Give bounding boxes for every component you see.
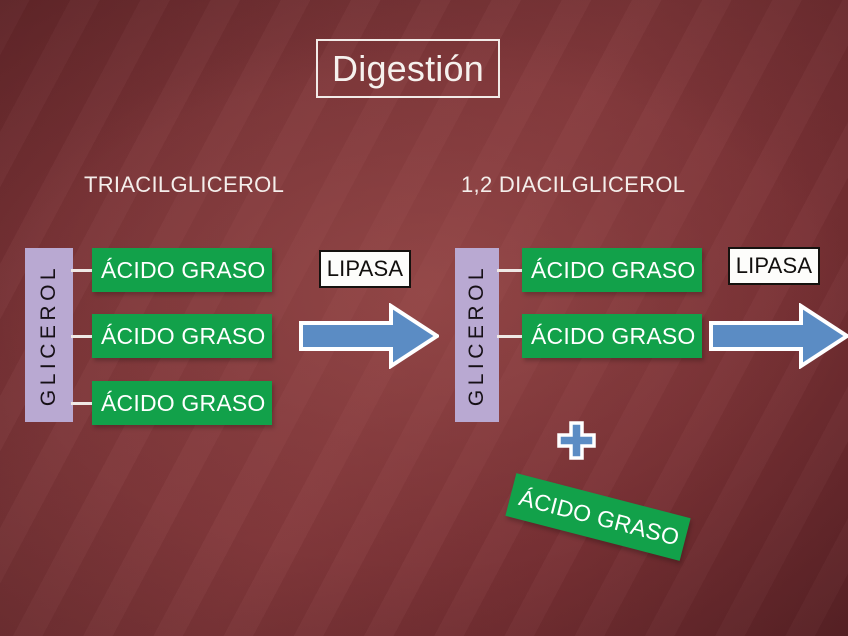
fatty-acid-label: ÁCIDO GRASO bbox=[101, 257, 266, 284]
bond-line-right-1 bbox=[497, 269, 524, 272]
fatty-acid-label: ÁCIDO GRASO bbox=[531, 323, 696, 350]
plus-sign-icon bbox=[557, 421, 596, 460]
glycerol-backbone-left: GLICEROL bbox=[25, 248, 73, 422]
fatty-acid-box-left-1: ÁCIDO GRASO bbox=[92, 248, 272, 292]
enzyme-label-box-1: LIPASA bbox=[319, 250, 411, 288]
glycerol-label-left: GLICEROL bbox=[37, 264, 61, 406]
reaction-arrow-2 bbox=[709, 303, 848, 369]
fatty-acid-label: ÁCIDO GRASO bbox=[101, 323, 266, 350]
page-title: Digestión bbox=[332, 51, 484, 87]
enzyme-label: LIPASA bbox=[736, 253, 813, 279]
glycerol-backbone-right: GLICEROL bbox=[455, 248, 499, 422]
fatty-acid-label: ÁCIDO GRASO bbox=[101, 390, 266, 417]
left-column-heading: TRIACILGLICEROL bbox=[84, 172, 284, 198]
reaction-arrow-1 bbox=[299, 303, 439, 369]
glycerol-label-right: GLICEROL bbox=[465, 264, 489, 406]
enzyme-label: LIPASA bbox=[327, 256, 404, 282]
right-column-heading: 1,2 DIACILGLICEROL bbox=[461, 172, 685, 198]
enzyme-label-box-2: LIPASA bbox=[728, 247, 820, 285]
slide-title-box: Digestión bbox=[316, 39, 500, 98]
fatty-acid-box-right-1: ÁCIDO GRASO bbox=[522, 248, 702, 292]
right-arrow-icon bbox=[709, 303, 848, 369]
fatty-acid-box-left-2: ÁCIDO GRASO bbox=[92, 314, 272, 358]
fatty-acid-box-right-2: ÁCIDO GRASO bbox=[522, 314, 702, 358]
slide-canvas: Digestión TRIACILGLICEROL 1,2 DIACILGLIC… bbox=[0, 0, 848, 636]
right-arrow-icon bbox=[299, 303, 439, 369]
fatty-acid-label: ÁCIDO GRASO bbox=[516, 484, 682, 551]
fatty-acid-label: ÁCIDO GRASO bbox=[531, 257, 696, 284]
plus-icon bbox=[557, 421, 596, 460]
released-fatty-acid-box: ÁCIDO GRASO bbox=[505, 473, 690, 561]
bond-line-right-2 bbox=[497, 335, 524, 338]
fatty-acid-box-left-3: ÁCIDO GRASO bbox=[92, 381, 272, 425]
